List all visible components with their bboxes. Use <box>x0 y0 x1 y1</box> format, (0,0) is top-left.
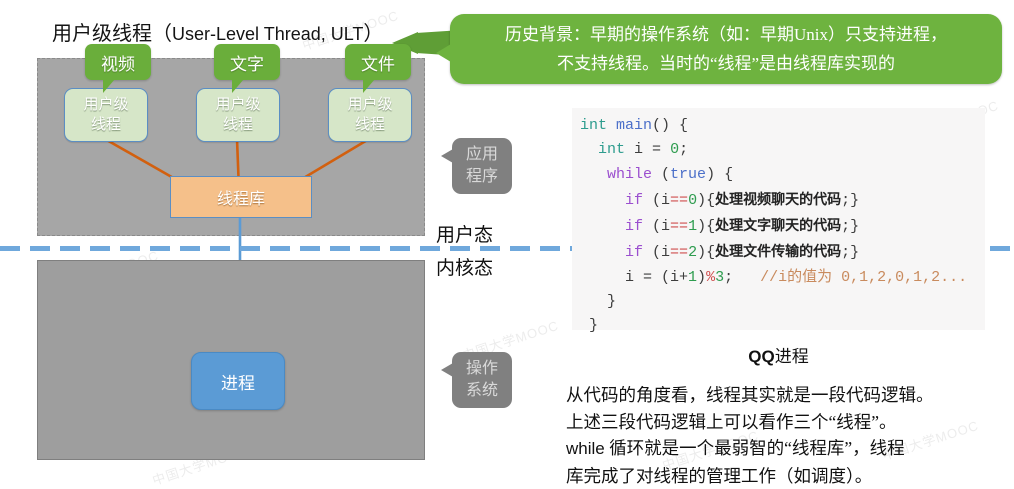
code-token: main <box>616 117 652 134</box>
user-level-thread-box: 用户级 线程 <box>64 88 148 142</box>
code-token: ){ <box>697 192 715 209</box>
code-token: 处理文件传输的代码 <box>715 243 841 259</box>
code-token <box>580 141 598 158</box>
code-line: if (i==2){处理文件传输的代码;} <box>580 239 980 265</box>
code-token: ; <box>679 141 688 158</box>
code-token: while <box>607 166 652 183</box>
ult-box-line2: 线程 <box>355 117 385 133</box>
code-token: (i <box>643 218 670 235</box>
slide-canvas: 中国大学MOOC 中国大学MOOC 中国大学MOOC 中国大学MOOC 中国大学… <box>0 0 1014 488</box>
user-level-thread-box: 用户级 线程 <box>196 88 280 142</box>
code-token: ){ <box>697 218 715 235</box>
code-token: () { <box>652 117 688 134</box>
code-token: 1 <box>688 269 697 286</box>
explanation-line-1: 从代码的角度看，线程其实就是一段代码逻辑。 <box>566 382 1006 409</box>
code-token: i <box>625 141 652 158</box>
code-token <box>580 244 625 261</box>
code-token: ;} <box>841 192 859 209</box>
code-block: int main() { int i = 0; while (true) { i… <box>580 114 980 339</box>
code-token: i = (i+ <box>580 269 688 286</box>
explanation-text: 从代码的角度看，线程其实就是一段代码逻辑。 上述三段代码逻辑上可以看作三个“线程… <box>566 382 1006 489</box>
label-kernel-mode: 内核态 <box>436 253 493 280</box>
explanation-line-3-latin: while <box>566 439 605 458</box>
code-token: int <box>580 117 607 134</box>
ult-box-line2: 线程 <box>223 117 253 133</box>
code-token: 处理文字聊天的代码 <box>715 217 841 233</box>
code-token: == <box>670 244 688 261</box>
callout-application: 应用 程序 <box>452 138 512 194</box>
code-line: i = (i+1)%3; //i的值为 0,1,2,0,1,2... <box>580 266 980 290</box>
label-user-mode: 用户态 <box>436 220 493 247</box>
title-latin: User-Level Thread, ULT <box>172 24 363 44</box>
code-token: } <box>580 317 598 334</box>
code-token: ; <box>724 269 760 286</box>
code-token: ) { <box>706 166 733 183</box>
callout-tail <box>441 149 453 163</box>
callout-os-line2: 系统 <box>466 382 498 399</box>
code-token: if <box>625 244 643 261</box>
page-title: 用户级线程（User-Level Thread, ULT） <box>52 17 383 46</box>
title-paren-close: ） <box>363 23 383 45</box>
explanation-line-2: 上述三段代码逻辑上可以看作三个“线程”。 <box>566 409 1006 436</box>
thread-library-label: 线程库 <box>217 185 265 209</box>
code-token: 1 <box>688 218 697 235</box>
qq-process-caption: QQ进程 <box>572 342 985 367</box>
title-cn: 用户级线程 <box>52 23 152 45</box>
code-token: (i <box>643 192 670 209</box>
code-token: 2 <box>688 244 697 261</box>
code-token: ;} <box>841 244 859 261</box>
explanation-line-4: 库完成了对线程的管理工作（如调度）。 <box>566 463 1006 489</box>
explanation-line-3: while 循环就是一个最弱智的“线程库”，线程 <box>566 435 1006 463</box>
code-token: == <box>670 192 688 209</box>
code-token: ( <box>652 166 670 183</box>
code-token: ){ <box>697 244 715 261</box>
code-line: while (true) { <box>580 163 980 187</box>
callout-app-line2: 程序 <box>466 168 498 185</box>
code-token <box>580 192 625 209</box>
code-line: int main() { <box>580 114 980 138</box>
qq-caption-cn: 进程 <box>775 347 809 366</box>
code-token <box>580 166 607 183</box>
title-paren-open: （ <box>152 23 172 45</box>
history-line-2: 不支持线程。当时的“线程”是由线程库实现的 <box>557 49 895 78</box>
code-token: ) <box>697 269 706 286</box>
thread-label-bubble-text: 文字 <box>214 44 280 80</box>
callout-tail <box>441 363 453 377</box>
code-token: 0 <box>670 141 679 158</box>
history-background-callout: 历史背景：早期的操作系统（如：早期Unix）只支持进程， 不支持线程。当时的“线… <box>450 14 1002 84</box>
ult-box-line1: 用户级 <box>347 97 392 113</box>
code-line: if (i==0){处理视频聊天的代码;} <box>580 187 980 213</box>
code-token: 处理视频聊天的代码 <box>715 191 841 207</box>
callout-os-line1: 操作 <box>466 360 498 377</box>
thread-label-bubble-video: 视频 <box>85 44 151 80</box>
bubble-tail <box>103 79 115 93</box>
code-token: if <box>625 192 643 209</box>
code-token <box>580 218 625 235</box>
callout-app-line1: 应用 <box>466 146 498 163</box>
user-level-thread-box: 用户级 线程 <box>328 88 412 142</box>
code-token: == <box>670 218 688 235</box>
code-line: } <box>580 314 980 338</box>
thread-library-box: 线程库 <box>170 176 312 218</box>
code-token: % <box>706 269 715 286</box>
code-token: (i <box>643 244 670 261</box>
qq-caption-latin: QQ <box>748 347 774 366</box>
code-line: if (i==1){处理文字聊天的代码;} <box>580 213 980 239</box>
code-token <box>661 141 670 158</box>
bubble-tail <box>363 79 375 93</box>
ult-box-line1: 用户级 <box>83 97 128 113</box>
process-box: 进程 <box>191 352 285 410</box>
code-token: true <box>670 166 706 183</box>
history-line-1: 历史背景：早期的操作系统（如：早期Unix）只支持进程， <box>505 20 947 49</box>
bubble-label: 文件 <box>361 50 395 75</box>
code-token: int <box>598 141 625 158</box>
code-token: //i的值为 0,1,2,0,1,2... <box>760 269 967 286</box>
code-token: 3 <box>715 269 724 286</box>
callout-tail <box>436 44 451 62</box>
bubble-label: 文字 <box>230 50 264 75</box>
process-label: 进程 <box>221 369 255 394</box>
code-token: } <box>580 293 616 310</box>
code-token: = <box>652 141 661 158</box>
bubble-label: 视频 <box>101 50 135 75</box>
ult-box-line1: 用户级 <box>215 97 260 113</box>
thread-label-bubble-file: 文件 <box>345 44 411 80</box>
code-line: } <box>580 290 980 314</box>
callout-operating-system: 操作 系统 <box>452 352 512 408</box>
code-token: 0 <box>688 192 697 209</box>
code-token <box>607 117 616 134</box>
bubble-tail <box>232 79 244 93</box>
code-line: int i = 0; <box>580 138 980 162</box>
explanation-line-3-rest: 循环就是一个最弱智的“线程库”，线程 <box>605 438 905 458</box>
ult-box-line2: 线程 <box>91 117 121 133</box>
code-token: ;} <box>841 218 859 235</box>
code-token: if <box>625 218 643 235</box>
